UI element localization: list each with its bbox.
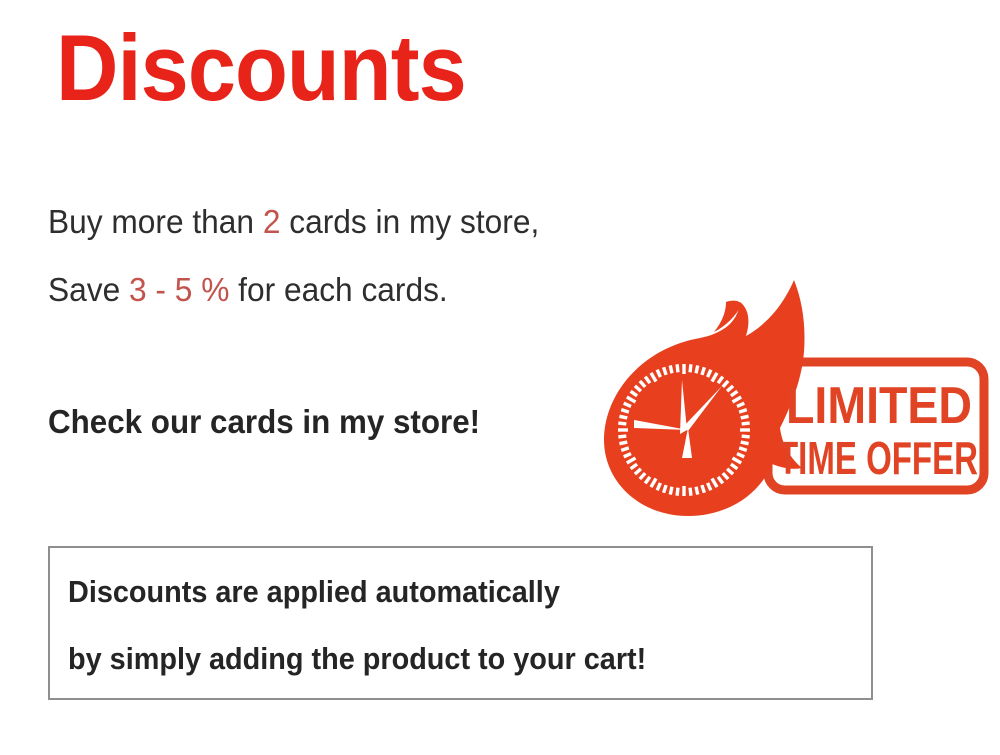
offer-line-2-highlight: 3 - 5 % <box>129 271 229 308</box>
callout-line-1: Discounts are applied automatically <box>68 573 560 611</box>
offer-line-2-suffix: for each cards. <box>229 271 447 308</box>
callout-box: Discounts are applied automatically by s… <box>48 546 873 700</box>
flame-clock-icon: LIMITED TIME OFFER <box>596 268 996 524</box>
badge-line-2: TIME OFFER <box>778 432 978 484</box>
offer-line-2: Save 3 - 5 % for each cards. <box>48 270 448 310</box>
badge-line-1: LIMITED <box>786 377 972 435</box>
offer-line-1-suffix: cards in my store, <box>280 203 539 240</box>
promo-banner: Discounts Buy more than 2 cards in my st… <box>0 0 1000 755</box>
offer-line-1: Buy more than 2 cards in my store, <box>48 202 539 242</box>
offer-line-1-highlight: 2 <box>263 203 281 240</box>
page-title: Discounts <box>56 18 466 118</box>
offer-line-2-prefix: Save <box>48 271 129 308</box>
cta-text: Check our cards in my store! <box>48 402 480 442</box>
callout-line-2: by simply adding the product to your car… <box>68 640 646 678</box>
limited-time-offer-badge: LIMITED TIME OFFER <box>596 268 996 524</box>
offer-line-1-prefix: Buy more than <box>48 203 263 240</box>
